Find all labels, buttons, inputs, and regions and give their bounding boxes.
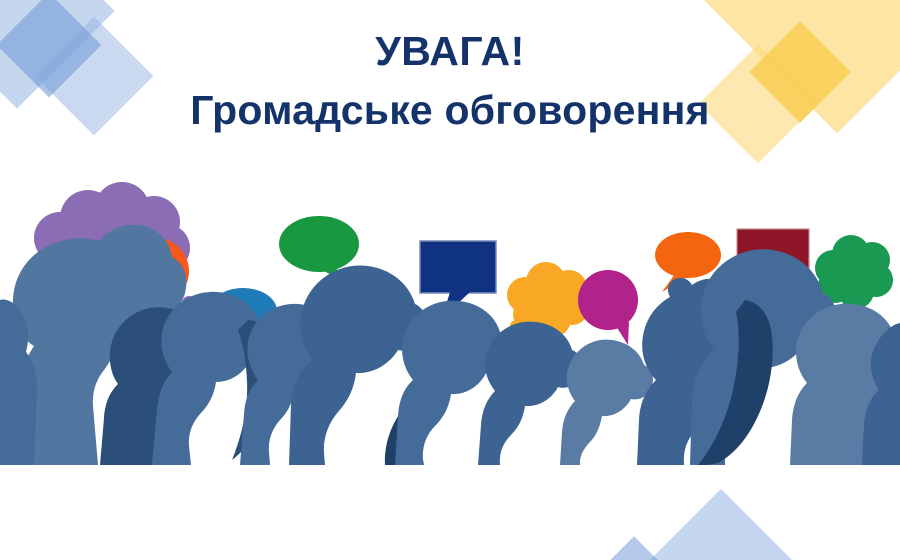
announcement-banner: УВАГА! Громадське обговорення <box>0 0 900 560</box>
heading-attention: УВАГА! <box>0 30 900 73</box>
heading-block: УВАГА! Громадське обговорення <box>0 30 900 132</box>
heading-title: Громадське обговорення <box>0 89 900 132</box>
magenta-round-bubble-icon <box>578 270 638 345</box>
